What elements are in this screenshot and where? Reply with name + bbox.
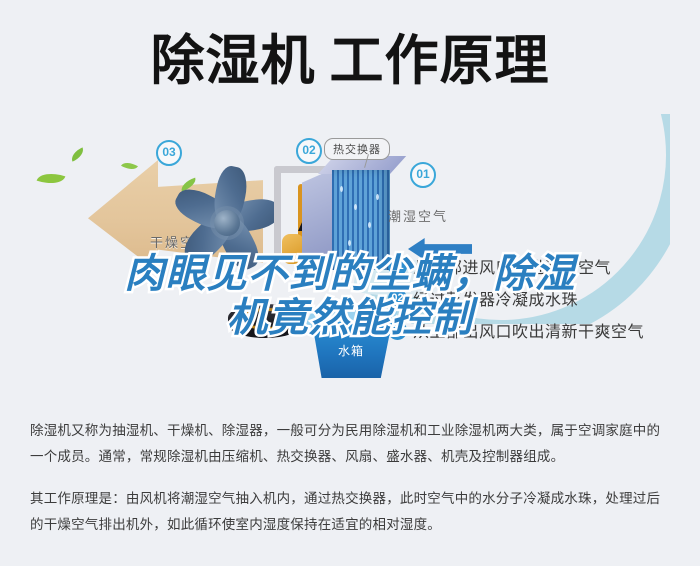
paragraph-1: 除湿机又称为抽湿机、干燥机、除湿器，一般可分为民用除湿机和工业除湿机两大类，属于… [30, 418, 672, 470]
diagram-badge-03: 03 [156, 140, 182, 166]
step-list: 01 从下部进风口吸进潮湿空气 02 经过蒸发器冷凝成水珠 03 从上部出风口吹… [388, 250, 688, 346]
heat-exchanger-callout: 热交换器 [324, 138, 390, 160]
leaf-icon [121, 159, 138, 173]
step-badge: 01 [388, 257, 407, 276]
leaf-icon [37, 168, 66, 188]
step-badge: 03 [388, 321, 407, 340]
step-text: 从上部出风口吹出清新干爽空气 [413, 318, 644, 342]
step-text: 从下部进风口吸进潮湿空气 [413, 254, 611, 278]
step-text: 经过蒸发器冷凝成水珠 [413, 286, 578, 310]
title-part-1: 除湿机 [151, 31, 316, 91]
infographic-page: 除湿机工作原理 干燥空气 [0, 0, 700, 566]
compressor-ring [240, 308, 296, 330]
paragraph-2: 其工作原理是：由风机将潮湿空气抽入机内，通过热交换器，此时空气中的水分子冷凝成水… [30, 486, 672, 538]
step-badge: 02 [388, 289, 407, 308]
body-copy: 除湿机又称为抽湿机、干燥机、除湿器，一般可分为民用除湿机和工业除湿机两大类，属于… [30, 418, 672, 538]
page-title: 除湿机工作原理 [151, 30, 550, 92]
title-part-2: 工作原理 [330, 31, 550, 91]
humid-air-label: 潮湿空气 [388, 206, 448, 225]
water-tank-label: 水箱 [338, 342, 364, 359]
list-item: 03 从上部出风口吹出清新干爽空气 [388, 314, 688, 346]
diagram-badge-01: 01 [410, 162, 436, 188]
list-item: 02 经过蒸发器冷凝成水珠 [388, 282, 688, 314]
list-item: 01 从下部进风口吸进潮湿空气 [388, 250, 688, 282]
diagram-badge-02: 02 [296, 138, 322, 164]
title-block: 除湿机工作原理 [0, 30, 700, 92]
leaf-icon [69, 147, 86, 161]
